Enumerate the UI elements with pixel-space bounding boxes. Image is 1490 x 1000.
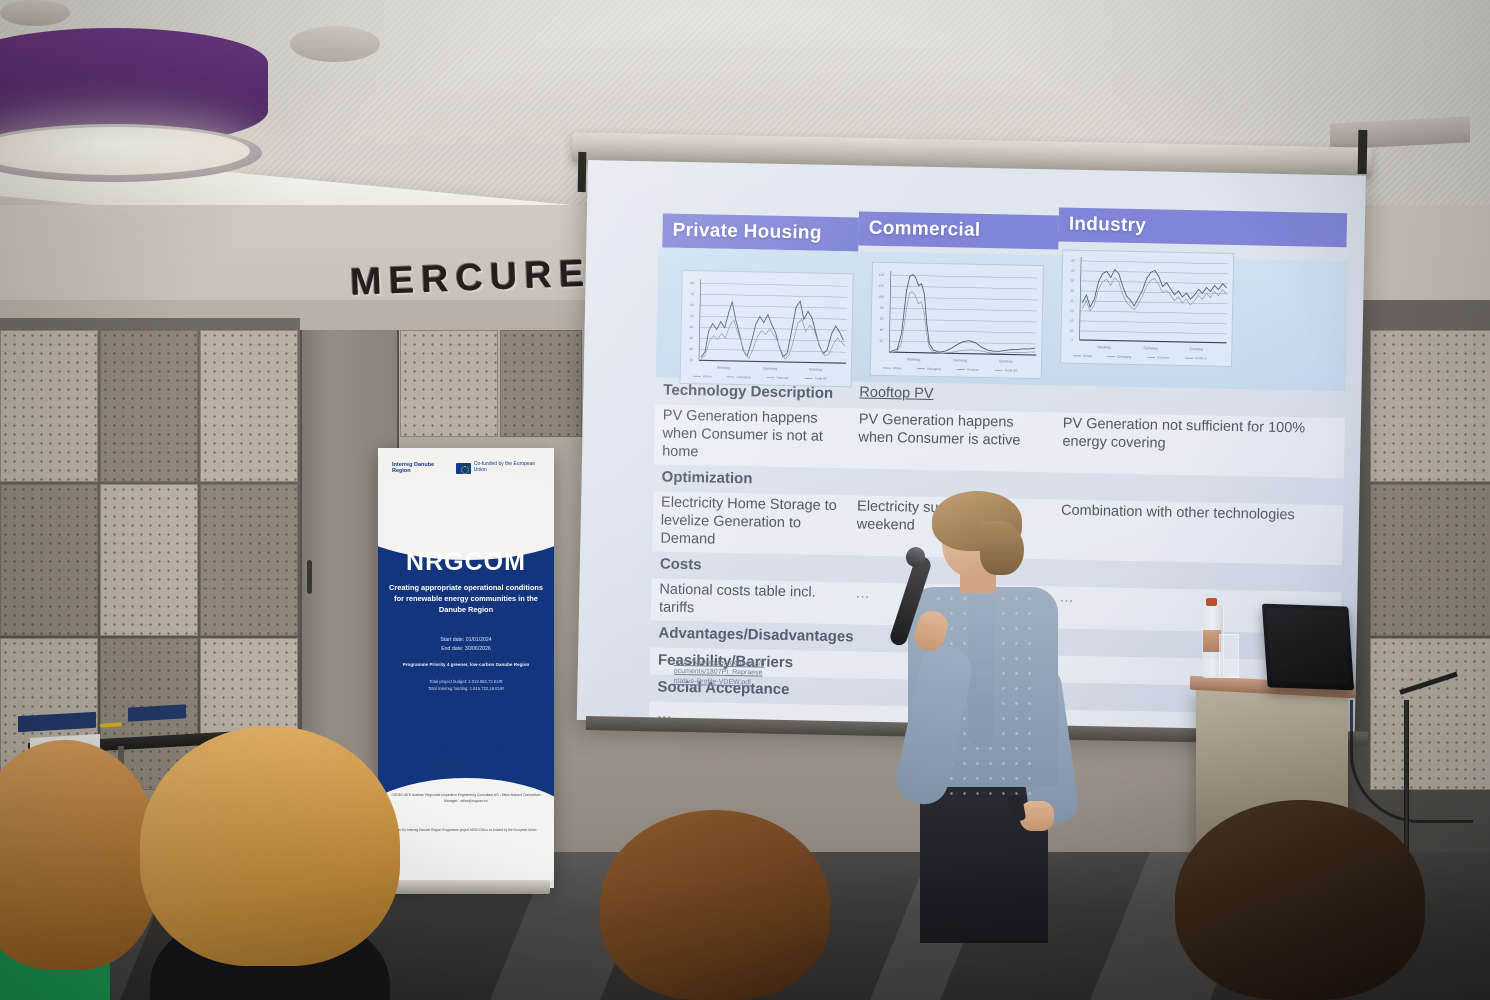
svg-text:Übergang: Übergang	[927, 367, 941, 371]
svg-text:40: 40	[690, 325, 694, 329]
svg-text:Sonntag: Sonntag	[809, 367, 822, 371]
load-profile-chart-commercial: 140120100 806040 20 WerktagSamstagSonnta…	[870, 262, 1044, 379]
acoustic-panel	[100, 330, 198, 482]
acoustic-panel	[400, 330, 498, 437]
row-label: Costs	[652, 552, 848, 583]
row-cell: PV Generation not sufficient for 100% en…	[1054, 412, 1343, 478]
banner-base	[382, 880, 550, 894]
svg-text:Sommer: Sommer	[967, 368, 980, 372]
svg-text:40: 40	[880, 328, 884, 332]
svg-text:20: 20	[1070, 309, 1074, 313]
banner-dates: Start date: 01/01/2024 End date: 30/06/2…	[392, 636, 540, 654]
row-label: Technology Description	[655, 377, 851, 408]
row-link-cell: Rooftop PV	[851, 381, 1055, 412]
mercure-wall-sign: MERCURE	[349, 254, 551, 306]
column-header-label: Private Housing	[672, 220, 822, 245]
conference-room-photo: MERCURE Private Housing Commercial Indus…	[0, 0, 1490, 1000]
audience-head	[1175, 800, 1425, 1000]
facebook-icon	[422, 761, 428, 767]
svg-text:Sonntag: Sonntag	[999, 359, 1012, 363]
slide-chart-row: 807060 504030 2010 WerktagSamstagSonntag…	[656, 247, 1348, 391]
banner-end-date: End date: 30/06/2026	[392, 645, 540, 654]
door-handle[interactable]	[307, 560, 312, 594]
svg-text:140: 140	[879, 273, 885, 277]
svg-text:Samstag: Samstag	[763, 367, 777, 371]
svg-text:60: 60	[880, 317, 884, 321]
svg-text:80: 80	[880, 306, 884, 310]
row-cell: Electricity Home Storage to levelize Gen…	[652, 491, 849, 555]
row-cell: PV Generation happens when Consumer is n…	[654, 404, 851, 468]
column-header-private-housing: Private Housing	[662, 214, 859, 252]
svg-text:80: 80	[691, 281, 695, 285]
svg-text:5: 5	[1071, 338, 1073, 342]
eu-cofunded-label: Co-funded by the European Union	[474, 462, 542, 474]
svg-text:15: 15	[1070, 319, 1074, 323]
acoustic-panel	[500, 330, 582, 437]
banner-budget-total: Total project budget: 2.019.652,73 EUR	[392, 678, 540, 685]
interreg-danube-logo: Interreg Danube Region	[392, 462, 448, 475]
svg-text:30: 30	[1070, 289, 1074, 293]
banner-budget-funding: Total Interreg funding: 1.615.722,18 EUR	[392, 685, 540, 692]
banner-contact-title: CONTACT US	[378, 738, 554, 752]
slide-source-link[interactable]: https://www.bdew.de/media/documents/1807…	[673, 658, 766, 688]
svg-text:20: 20	[879, 339, 883, 343]
audience-head	[0, 740, 160, 970]
svg-text:10: 10	[689, 358, 693, 362]
banner-social-handles: @NRGCOMProject @NRGCOM	[422, 760, 472, 777]
column-header-label: Industry	[1069, 214, 1147, 238]
acoustic-panel	[1370, 484, 1490, 636]
banner-logo-row: Interreg Danube Region Co-funded by the …	[392, 456, 542, 480]
presenter	[880, 495, 1090, 915]
column-header-label: Commercial	[868, 218, 980, 242]
load-profile-chart-private-housing: 807060 504030 2010 WerktagSamstagSonntag…	[680, 270, 854, 387]
banner-title: NRGCOM	[378, 548, 554, 577]
acoustic-panel	[100, 484, 198, 636]
banner-priority: Programme Priority 4 greener, low-carbon…	[388, 662, 544, 667]
svg-text:30: 30	[689, 336, 693, 340]
row-label: Advantages/Disadvantages	[650, 621, 846, 652]
screen-mount-right	[1358, 130, 1368, 174]
svg-text:Profil L0: Profil L0	[1195, 356, 1207, 360]
handle-label: @NRGCOMProject	[432, 760, 472, 769]
presenter-shirt-front	[968, 595, 994, 745]
audience-head	[600, 810, 830, 1000]
rollup-banner: Interreg Danube Region Co-funded by the …	[378, 448, 554, 888]
banner-arc-top	[378, 470, 554, 560]
drinking-glass	[1219, 634, 1239, 678]
laptop-screen	[1266, 608, 1350, 685]
svg-text:120: 120	[878, 284, 884, 288]
ceiling-fixture	[290, 26, 380, 62]
banner-start-date: Start date: 01/01/2024	[392, 636, 540, 645]
svg-text:45: 45	[1071, 259, 1075, 263]
linkedin-icon	[422, 770, 428, 776]
row-cell: Combination with other technologies	[1052, 499, 1341, 565]
laptop[interactable]	[1262, 604, 1354, 691]
audience-head	[140, 726, 400, 966]
handle-label: @NRGCOM	[432, 769, 458, 778]
svg-text:Sonntag: Sonntag	[1189, 347, 1202, 351]
ceiling-fixture	[0, 0, 70, 26]
svg-text:Winter: Winter	[1083, 354, 1093, 358]
svg-text:Samstag: Samstag	[953, 358, 967, 362]
svg-text:70: 70	[690, 292, 694, 296]
audience-member	[600, 810, 830, 1000]
svg-text:Samstag: Samstag	[1143, 346, 1157, 350]
acoustic-panel	[200, 484, 298, 636]
bottle-cap	[1206, 598, 1217, 606]
svg-text:20: 20	[689, 347, 693, 351]
acoustic-panel	[1370, 330, 1490, 482]
svg-text:25: 25	[1070, 299, 1074, 303]
svg-text:Profil G0: Profil G0	[1005, 368, 1018, 372]
svg-text:Werktag: Werktag	[1097, 345, 1110, 349]
svg-text:35: 35	[1071, 279, 1075, 283]
acoustic-panel	[0, 484, 98, 636]
svg-text:Sommer: Sommer	[1157, 355, 1170, 359]
screen-mount-left	[578, 152, 587, 192]
banner-subtitle: Creating appropriate operational conditi…	[388, 582, 544, 615]
audience-member	[1175, 800, 1425, 1000]
social-handle[interactable]: @NRGCOM	[422, 769, 472, 778]
audience-member	[0, 740, 160, 1000]
row-label: Optimization	[653, 465, 849, 496]
svg-text:Werktag: Werktag	[907, 357, 920, 361]
column-header-commercial: Commercial	[858, 211, 1059, 249]
social-handle[interactable]: @NRGCOMProject	[422, 760, 472, 769]
ceiling-lamp	[0, 28, 268, 178]
svg-text:100: 100	[878, 295, 884, 299]
svg-text:Übergang: Übergang	[1117, 355, 1131, 359]
banner-fine-print-secondary: The EU Interreg Danube Region Programme …	[390, 828, 542, 832]
eu-flag-icon	[456, 463, 470, 474]
svg-text:40: 40	[1071, 269, 1075, 273]
acoustic-panel	[200, 330, 298, 482]
rooftop-pv-link[interactable]: Rooftop PV	[859, 384, 933, 401]
column-header-industry: Industry	[1058, 207, 1347, 247]
banner-fine-print: CEDEC AEE Austrian Regionale Inspiration…	[390, 792, 542, 804]
svg-text:10: 10	[1070, 329, 1074, 333]
svg-text:50: 50	[690, 314, 694, 318]
audience-member	[140, 730, 400, 1000]
svg-text:Winter: Winter	[893, 366, 903, 370]
acoustic-panel	[0, 330, 98, 482]
svg-text:Werktag: Werktag	[717, 366, 730, 370]
svg-text:60: 60	[690, 303, 694, 307]
banner-budget: Total project budget: 2.019.652,73 EUR T…	[392, 678, 540, 692]
eu-cofunded-logo: Co-funded by the European Union	[456, 462, 542, 474]
load-profile-chart-industry: 454035 302520 15105 WerktagSamstagSonnta…	[1060, 250, 1234, 367]
row-cell: PV Generation happens when Consumer is a…	[850, 408, 1055, 472]
row-cell: National costs table incl. tariffs	[651, 578, 848, 624]
